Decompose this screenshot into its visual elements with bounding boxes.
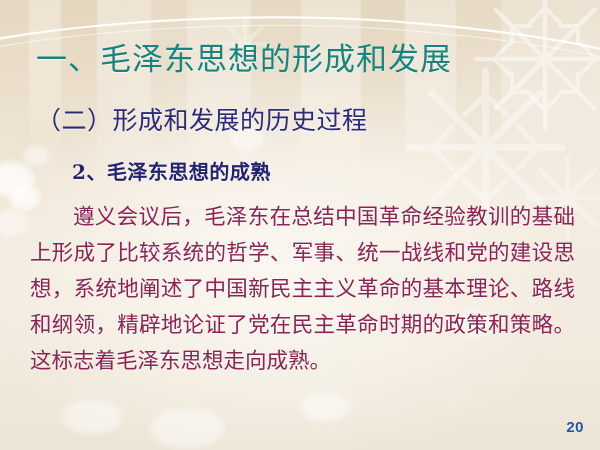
presentation-slide: 一、毛泽东思想的形成和发展 （二）形成和发展的历史过程 2、毛泽东思想的成熟 遵… [0,0,600,450]
section-subtitle: （二）形成和发展的历史过程 [36,101,368,137]
body-paragraph: 遵义会议后，毛泽东在总结中国革命经验教训的基础上形成了比较系统的哲学、军事、统一… [30,200,575,380]
section-subsubtitle: 2、毛泽东思想的成熟 [72,156,271,185]
page-title: 一、毛泽东思想的形成和发展 [36,34,452,79]
slide-content: 一、毛泽东思想的形成和发展 （二）形成和发展的历史过程 2、毛泽东思想的成熟 遵… [0,0,600,450]
page-number: 20 [566,419,584,436]
